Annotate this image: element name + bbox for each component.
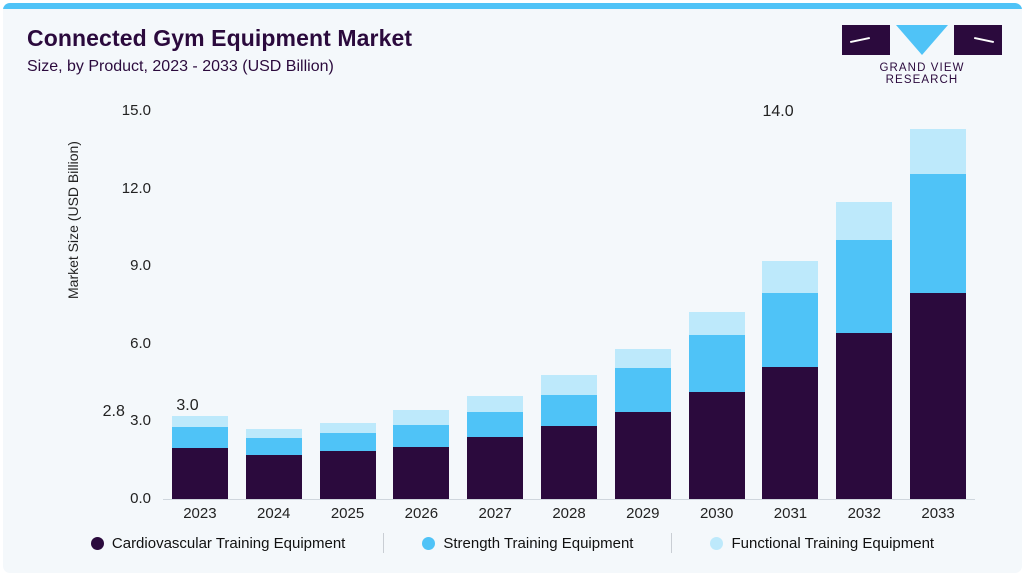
logo-triangle-icon <box>896 25 948 55</box>
y-axis-title: Market Size (USD Billion) <box>65 141 81 299</box>
bar-column[interactable] <box>172 416 228 499</box>
bar-segment <box>910 129 966 174</box>
brand-logo: GRAND VIEW RESEARCH <box>842 25 1002 86</box>
chart-title: Connected Gym Equipment Market <box>27 25 412 52</box>
bar-segment <box>467 437 523 499</box>
bar-segment <box>172 416 228 426</box>
bar-column[interactable] <box>393 410 449 499</box>
bar-segment <box>762 293 818 366</box>
logo-text: GRAND VIEW RESEARCH <box>842 62 1002 86</box>
bar-segment <box>320 451 376 499</box>
chart-page: Connected Gym Equipment Market Size, by … <box>0 0 1025 576</box>
top-accent-bar <box>3 3 1025 9</box>
bar-segment <box>615 368 671 412</box>
bar-column[interactable] <box>615 349 671 499</box>
legend-divider <box>671 533 672 553</box>
x-tick-label: 2027 <box>457 505 533 522</box>
bar-segment <box>393 425 449 446</box>
bar-segment <box>541 426 597 499</box>
x-tick-label: 2032 <box>826 505 902 522</box>
bars-container <box>163 111 975 499</box>
bar-segment <box>689 335 745 393</box>
bar-segment <box>836 202 892 241</box>
y-tick-label: 6.0 <box>99 335 151 352</box>
legend-item[interactable]: Cardiovascular Training Equipment <box>91 535 345 552</box>
bar-segment <box>541 375 597 394</box>
x-tick-label: 2024 <box>236 505 312 522</box>
bar-segment <box>910 174 966 293</box>
legend-swatch-icon <box>91 537 104 550</box>
x-tick-label: 2033 <box>900 505 976 522</box>
bar-segment <box>320 423 376 433</box>
plot-area: Market Size (USD Billion) 0.03.06.09.012… <box>3 99 1022 519</box>
legend-swatch-icon <box>422 537 435 550</box>
bar-segment <box>615 349 671 368</box>
logo-right-rect-icon <box>954 25 1002 55</box>
x-tick-label: 2023 <box>162 505 238 522</box>
legend-label: Cardiovascular Training Equipment <box>112 535 345 552</box>
bar-segment <box>689 392 745 499</box>
bar-segment <box>615 412 671 499</box>
x-tick-label: 2026 <box>383 505 459 522</box>
bar-segment <box>172 448 228 499</box>
bar-segment <box>762 261 818 293</box>
bar-column[interactable] <box>467 396 523 499</box>
y-tick-label: 15.0 <box>99 102 151 119</box>
bar-value-label: 14.0 <box>743 103 813 121</box>
bar-column[interactable] <box>836 202 892 499</box>
x-tick-label: 2030 <box>679 505 755 522</box>
bar-value-label: 2.8 <box>79 403 149 421</box>
bar-column[interactable] <box>910 129 966 499</box>
bar-segment <box>393 447 449 500</box>
bar-segment <box>836 240 892 333</box>
y-tick-label: 12.0 <box>99 180 151 197</box>
bar-segment <box>689 312 745 335</box>
legend-label: Functional Training Equipment <box>731 535 934 552</box>
x-tick-label: 2031 <box>752 505 828 522</box>
bar-segment <box>836 333 892 499</box>
legend-item[interactable]: Functional Training Equipment <box>710 535 934 552</box>
bar-column[interactable] <box>320 423 376 499</box>
bar-column[interactable] <box>689 312 745 499</box>
legend-item[interactable]: Strength Training Equipment <box>422 535 633 552</box>
bar-segment <box>910 293 966 499</box>
y-tick-label: 9.0 <box>99 257 151 274</box>
legend-swatch-icon <box>710 537 723 550</box>
bar-segment <box>246 438 302 455</box>
bar-segment <box>467 412 523 437</box>
bar-value-label: 3.0 <box>153 397 223 415</box>
y-tick-label: 0.0 <box>99 490 151 507</box>
x-axis-line <box>163 499 975 500</box>
chart-subtitle: Size, by Product, 2023 - 2033 (USD Billi… <box>27 58 412 76</box>
bar-segment <box>393 410 449 426</box>
bar-column[interactable] <box>762 261 818 499</box>
bar-column[interactable] <box>541 375 597 499</box>
x-tick-label: 2025 <box>310 505 386 522</box>
bar-segment <box>541 395 597 426</box>
y-axis-ticks: 0.03.06.09.012.015.0 <box>99 99 151 499</box>
bar-segment <box>467 396 523 412</box>
x-tick-label: 2028 <box>531 505 607 522</box>
logo-marks <box>842 25 1002 59</box>
bar-segment <box>172 427 228 448</box>
legend-divider <box>383 533 384 553</box>
x-tick-label: 2029 <box>605 505 681 522</box>
bar-column[interactable] <box>246 429 302 499</box>
legend: Cardiovascular Training EquipmentStrengt… <box>3 533 1022 553</box>
bar-segment <box>762 367 818 499</box>
logo-left-rect-icon <box>842 25 890 55</box>
bar-segment <box>320 433 376 452</box>
legend-label: Strength Training Equipment <box>443 535 633 552</box>
bar-segment <box>246 455 302 499</box>
bar-segment <box>246 429 302 438</box>
title-block: Connected Gym Equipment Market Size, by … <box>27 25 412 76</box>
